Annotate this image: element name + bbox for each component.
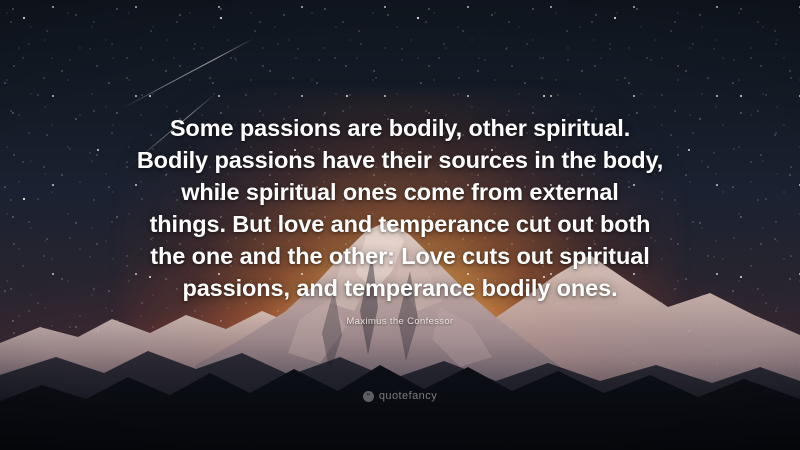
quotefancy-logo-icon: “ <box>363 391 374 402</box>
quote-line: things. But love and temperance cut out … <box>60 208 740 240</box>
quote-line: the one and the other: Love cuts out spi… <box>60 240 740 272</box>
quote-poster: Some passions are bodily, other spiritua… <box>0 0 800 450</box>
watermark[interactable]: “ quotefancy <box>0 390 800 402</box>
quote-line: passions, and temperance bodily ones. <box>60 272 740 304</box>
quote-line: while spiritual ones come from external <box>60 176 740 208</box>
quote-line: Some passions are bodily, other spiritua… <box>60 112 740 144</box>
quote-text-block: Some passions are bodily, other spiritua… <box>0 112 800 304</box>
watermark-brand-label: quotefancy <box>379 390 437 402</box>
quote-line: Bodily passions have their sources in th… <box>60 144 740 176</box>
quote-author: Maximus the Confessor <box>0 316 800 327</box>
